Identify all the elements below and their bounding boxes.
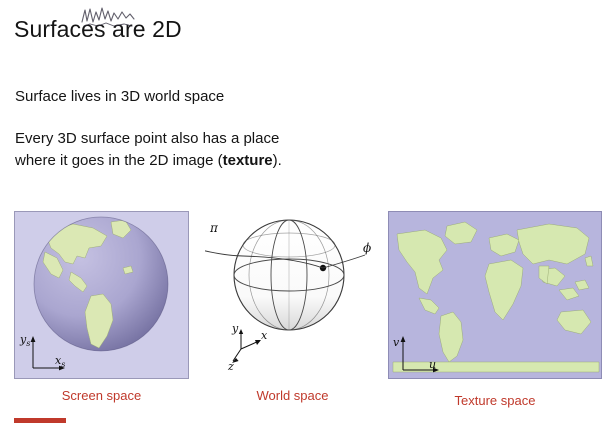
texture-space-panel: v u bbox=[388, 211, 602, 379]
ink-scribble-annotation bbox=[78, 4, 138, 30]
texture-axis-u-label: u bbox=[429, 358, 436, 371]
sphere-wireframe-image bbox=[205, 211, 380, 379]
world-axis-x-label: x bbox=[261, 329, 267, 342]
world-symbol-pi: π bbox=[210, 221, 218, 235]
screen-axis-x-label: xs bbox=[55, 354, 65, 369]
globe-render-image bbox=[15, 212, 189, 379]
texture-axis-v-label: v bbox=[393, 336, 399, 349]
world-map-image bbox=[389, 212, 602, 379]
body-text-bold-texture: texture bbox=[223, 152, 273, 169]
body-text-line-1: Surface lives in 3D world space bbox=[15, 88, 224, 105]
screen-space-panel: ys xs bbox=[14, 211, 189, 379]
screen-axis-y-label: ys bbox=[20, 333, 30, 348]
world-axis-y-label: y bbox=[232, 322, 238, 335]
body-text-segment-c: ). bbox=[273, 152, 282, 169]
world-axis-z-label: z bbox=[228, 360, 234, 373]
caption-world-space: World space bbox=[205, 388, 380, 403]
caption-screen-space: Screen space bbox=[14, 388, 189, 403]
body-text-line-2: Every 3D surface point also has a place … bbox=[15, 128, 435, 172]
slide-root: Surfaces are 2D Surface lives in 3D worl… bbox=[0, 0, 616, 427]
world-symbol-phi: ϕ bbox=[363, 241, 371, 255]
body-text-segment-b: where it goes in the 2D image ( bbox=[15, 152, 223, 169]
accent-bar bbox=[14, 418, 66, 423]
body-text-segment-a: Every 3D surface point also has a place bbox=[15, 130, 279, 147]
caption-texture-space: Texture space bbox=[388, 393, 602, 408]
world-space-panel: π ϕ y x z bbox=[205, 211, 380, 379]
